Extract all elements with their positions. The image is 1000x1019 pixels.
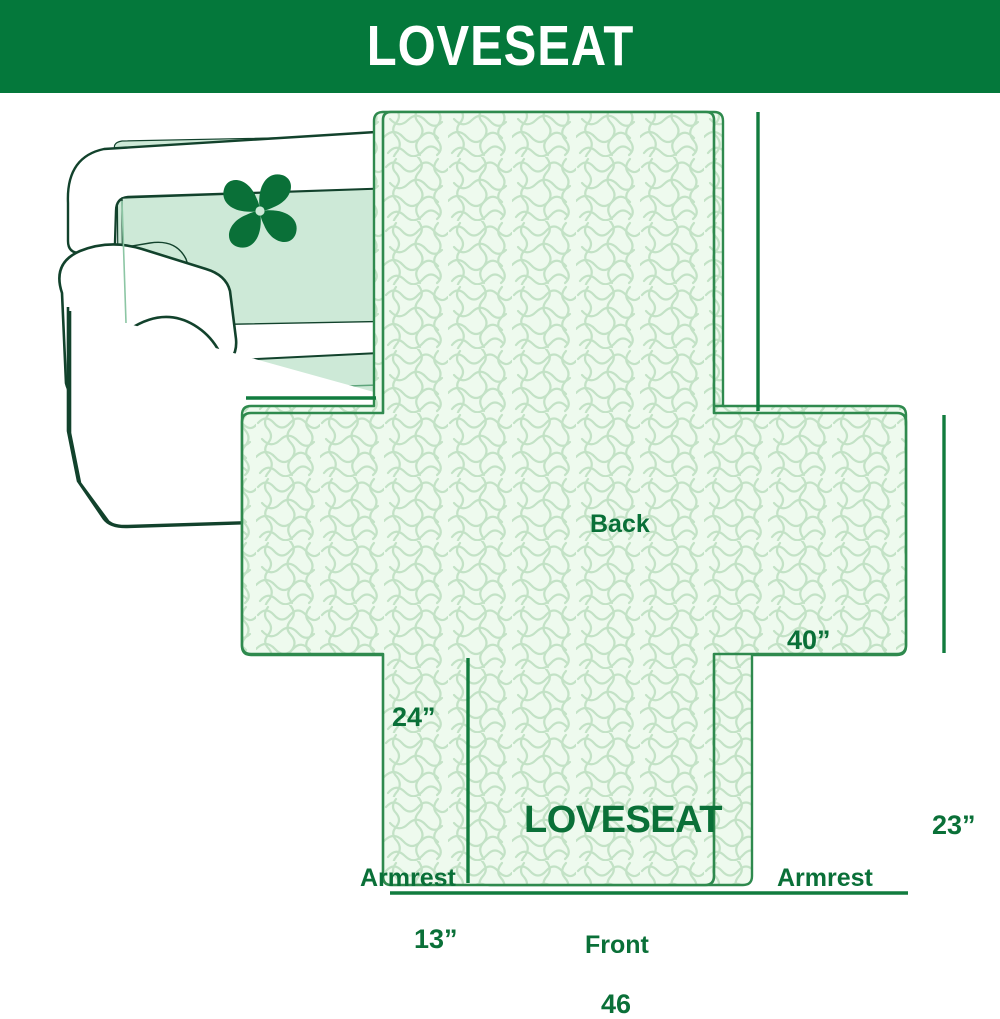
region-label-armrest-left: Armrest	[360, 866, 456, 891]
header-banner: LOVESEAT	[0, 0, 1000, 93]
region-label-back: Back	[590, 512, 650, 537]
illustration-stage: Back Front Armrest Armrest LOVESEAT 40” …	[0, 93, 1000, 1000]
dimension-label-back-height: 40”	[787, 627, 831, 654]
region-label-front: Front	[585, 933, 649, 958]
dimension-label-seat-depth: 23”	[932, 812, 976, 839]
dimension-label-armrest-width: 24”	[392, 704, 436, 731]
cover-center-label: LOVESEAT	[524, 801, 722, 839]
dimension-label-front-skirt: 13”	[414, 926, 458, 953]
dimension-label-front-width: 46	[601, 991, 631, 1018]
region-label-armrest-right: Armrest	[777, 866, 873, 891]
page-title: LOVESEAT	[366, 18, 633, 75]
